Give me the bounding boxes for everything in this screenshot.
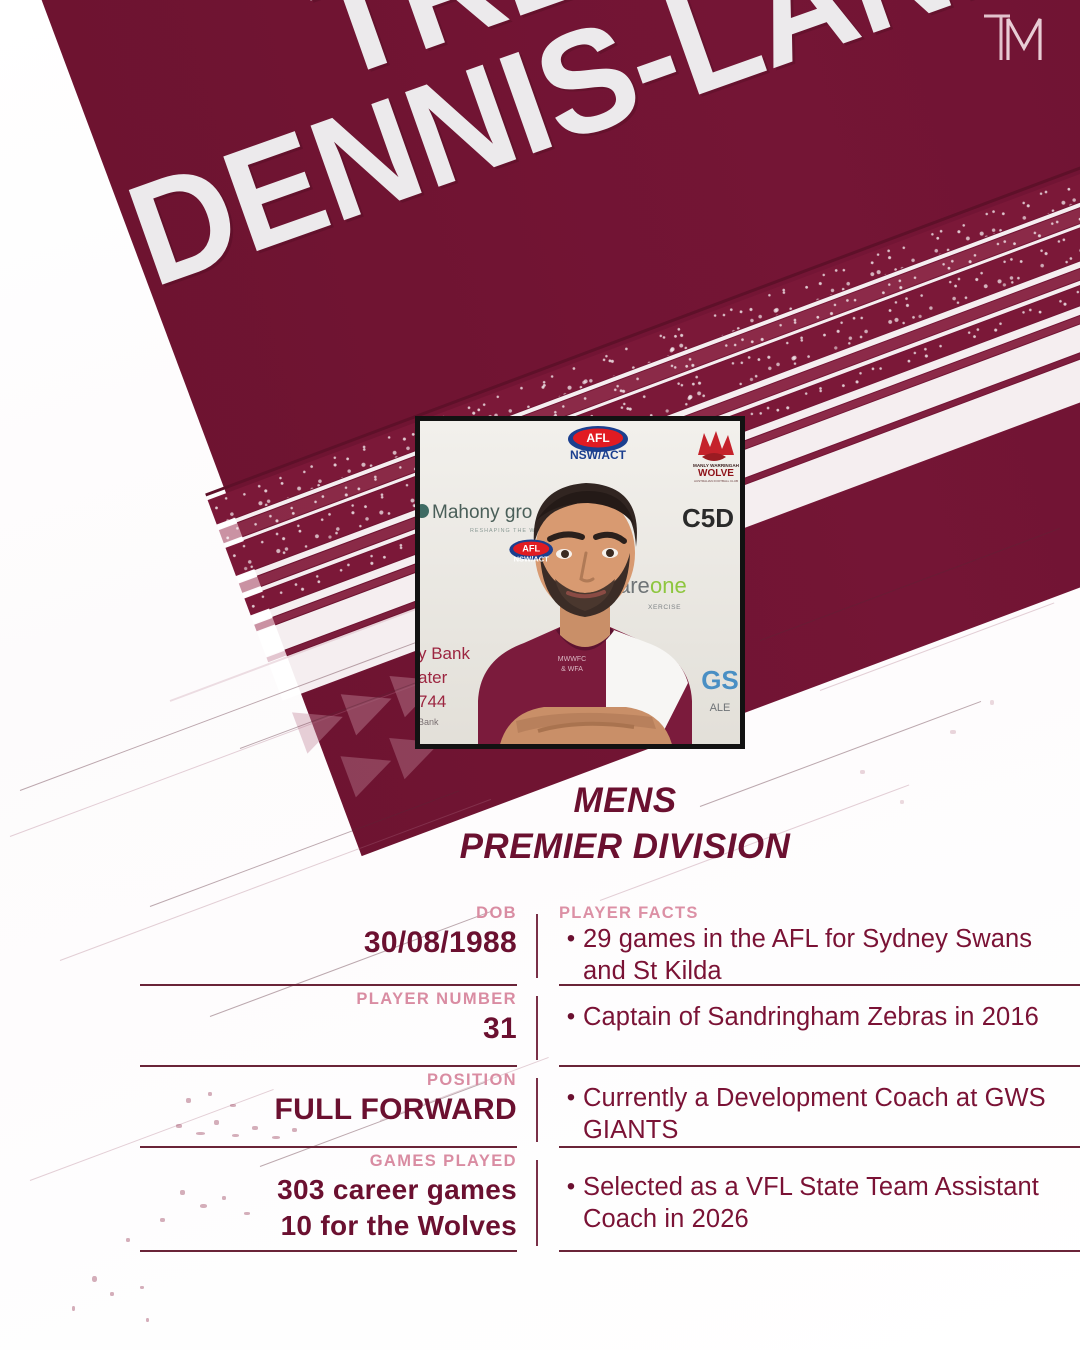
bullet-icon: • xyxy=(559,924,583,988)
svg-text:744: 744 xyxy=(420,692,446,711)
division-line-2: PREMIER DIVISION xyxy=(355,824,895,870)
stat-row-player-number: PLAYER NUMBER 31 xyxy=(140,986,517,1067)
player-stats-column: DOB 30/08/1988 PLAYER NUMBER 31 POSITION… xyxy=(0,900,537,1270)
player-portrait-image: AFL NSW/ACT MANLY WARRINGAH WOLVE AUSTRA… xyxy=(420,421,740,744)
stat-row-dob: DOB 30/08/1988 xyxy=(140,900,517,986)
fact-item: • Currently a Development Coach at GWS G… xyxy=(559,1067,1080,1147)
svg-text:one: one xyxy=(650,573,687,598)
svg-text:XERCISE: XERCISE xyxy=(648,604,681,611)
bullet-icon: • xyxy=(559,1083,583,1147)
stat-row-position: POSITION FULL FORWARD xyxy=(140,1067,517,1148)
fact-item: • Captain of Sandringham Zebras in 2016 xyxy=(559,986,1080,1034)
stat-value-position: FULL FORWARD xyxy=(140,1090,517,1129)
stat-value-games-wolves: 10 for the Wolves xyxy=(140,1207,517,1243)
svg-text:Mahony gro: Mahony gro xyxy=(432,502,532,523)
stat-label-games-played: GAMES PLAYED xyxy=(140,1148,517,1171)
fact-text-2: Captain of Sandringham Zebras in 2016 xyxy=(583,1002,1039,1034)
svg-text:MWWFC: MWWFC xyxy=(558,656,586,663)
player-photo: AFL NSW/ACT MANLY WARRINGAH WOLVE AUSTRA… xyxy=(415,416,745,749)
svg-text:AUSTRALIAN FOOTBALL CLUB: AUSTRALIAN FOOTBALL CLUB xyxy=(694,479,738,483)
svg-text:C5D: C5D xyxy=(682,503,734,533)
fact-row-3: • Currently a Development Coach at GWS G… xyxy=(559,1067,1080,1148)
fact-row-4: • Selected as a VFL State Team Assistant… xyxy=(559,1148,1080,1252)
tm-monogram-logo xyxy=(980,10,1046,66)
column-divider xyxy=(536,900,538,1270)
svg-text:WOLVE: WOLVE xyxy=(698,468,734,479)
svg-text:AFL: AFL xyxy=(522,544,540,554)
svg-text:& WFA: & WFA xyxy=(561,666,583,673)
player-facts-label: PLAYER FACTS xyxy=(559,900,1080,923)
fact-text-1: 29 games in the AFL for Sydney Swans and… xyxy=(583,924,1053,988)
bullet-icon: • xyxy=(559,1172,583,1236)
player-profile-poster: TRENT DENNIS-LANE xyxy=(0,0,1080,1350)
svg-text:AFL: AFL xyxy=(586,431,609,445)
stat-value-games-career: 303 career games xyxy=(140,1171,517,1207)
fact-row-1: PLAYER FACTS • 29 games in the AFL for S… xyxy=(559,900,1080,986)
stat-value-player-number: 31 xyxy=(140,1009,517,1048)
svg-text:RESHAPING THE W: RESHAPING THE W xyxy=(470,528,536,534)
svg-text:GS: GS xyxy=(701,665,739,695)
svg-text:ater: ater xyxy=(420,668,448,687)
stat-label-position: POSITION xyxy=(140,1067,517,1090)
fact-row-2: • Captain of Sandringham Zebras in 2016 xyxy=(559,986,1080,1067)
svg-text:Bank: Bank xyxy=(420,717,439,727)
stat-label-dob: DOB xyxy=(140,900,517,923)
fact-text-4: Selected as a VFL State Team Assistant C… xyxy=(583,1172,1053,1236)
fact-item: • Selected as a VFL State Team Assistant… xyxy=(559,1148,1080,1236)
svg-text:NSW/ACT: NSW/ACT xyxy=(570,448,627,462)
svg-text:ALE: ALE xyxy=(710,702,731,714)
division-line-1: MENS xyxy=(355,778,895,824)
stat-row-games-played: GAMES PLAYED 303 career games 10 for the… xyxy=(140,1148,517,1252)
stats-section: DOB 30/08/1988 PLAYER NUMBER 31 POSITION… xyxy=(0,900,1080,1270)
player-facts-column: PLAYER FACTS • 29 games in the AFL for S… xyxy=(537,900,1080,1270)
bullet-icon: • xyxy=(559,1002,583,1034)
stat-value-dob: 30/08/1988 xyxy=(140,923,517,962)
fact-item: • 29 games in the AFL for Sydney Swans a… xyxy=(559,923,1080,988)
stat-label-player-number: PLAYER NUMBER xyxy=(140,986,517,1009)
svg-text:NSW/ACT: NSW/ACT xyxy=(514,554,550,563)
svg-text:y Bank: y Bank xyxy=(420,644,470,663)
fact-text-3: Currently a Development Coach at GWS GIA… xyxy=(583,1083,1053,1147)
division-heading: MENS PREMIER DIVISION xyxy=(355,778,895,870)
